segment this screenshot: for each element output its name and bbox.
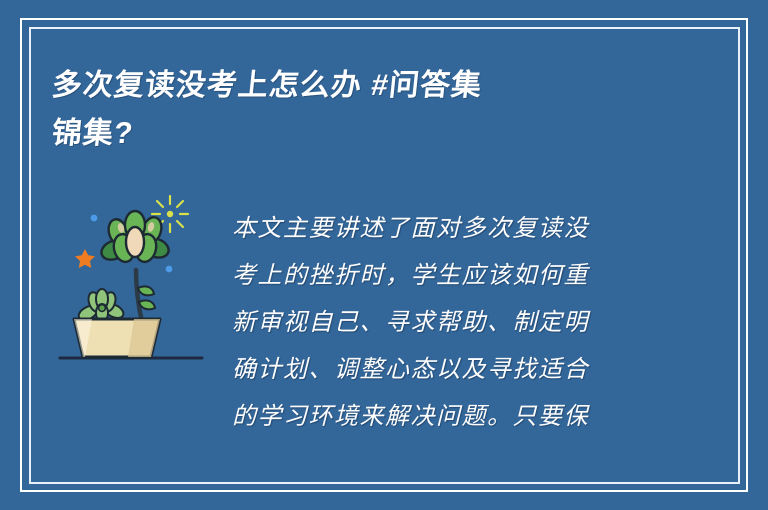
blue-dot-sparkle-right [166, 266, 173, 273]
blue-dot-sparkle-top [91, 215, 98, 222]
body-paragraph: 本文主要讲述了面对多次复读没 考上的挫折时，学生应该如何重 新审视自己、寻求帮助… [232, 206, 652, 441]
title-line-1: 多次复读没考上怎么办 #问答集 [49, 62, 654, 110]
body-line-2: 考上的挫折时，学生应该如何重 [232, 253, 652, 300]
poster-canvas: 多次复读没考上怎么办 #问答集 锦集? [0, 0, 768, 510]
orange-star-sparkle [75, 249, 95, 268]
flower-pot [74, 319, 160, 357]
stem-side-leaves [138, 286, 155, 309]
body-line-4: 确计划、调整心态以及寻找适合 [232, 347, 652, 394]
potted-plant-illustration [52, 192, 222, 372]
body-line-5: 的学习环境来解决问题。只要保 [232, 394, 652, 441]
flower-head [99, 211, 172, 264]
plant-stem [136, 270, 142, 322]
page-title: 多次复读没考上怎么办 #问答集 锦集? [52, 62, 652, 158]
body-line-1: 本文主要讲述了面对多次复读没 [232, 206, 652, 253]
title-line-2: 锦集? [49, 110, 654, 158]
body-line-3: 新审视自己、寻求帮助、制定明 [232, 300, 652, 347]
